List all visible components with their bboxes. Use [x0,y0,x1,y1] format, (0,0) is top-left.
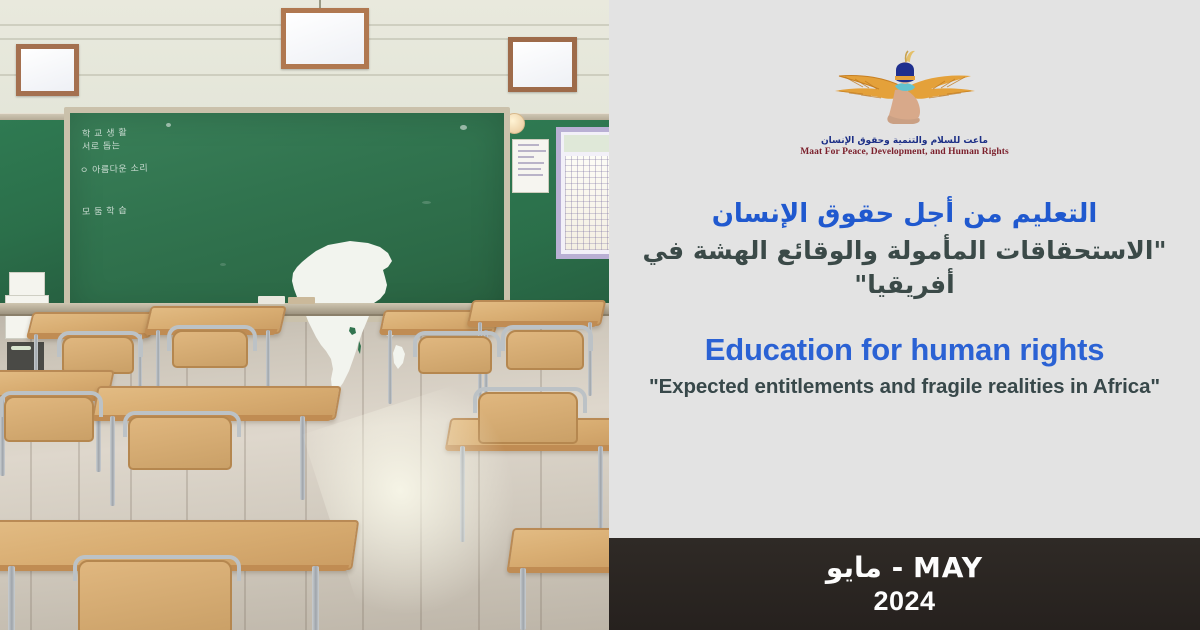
chair [418,336,488,370]
wall-picture-frame [508,37,577,92]
chair [172,330,244,364]
date-year: 2024 [873,586,935,617]
desk [507,528,609,568]
maat-winged-goddess-logo-icon [823,48,987,134]
date-bar: مايو - MAY 2024 [609,538,1200,630]
wall-picture-frame [16,44,79,96]
english-title-line1: Education for human rights [619,332,1190,368]
organization-logo: ماعت للسلام والتنمية وحقوق الإنسان Maat … [609,48,1200,157]
english-title-block: Education for human rights "Expected ent… [609,332,1200,399]
logo-english-name: Maat For Peace, Development, and Human R… [609,147,1200,157]
blackboard-eraser [258,296,285,304]
logo-arabic-name: ماعت للسلام والتنمية وحقوق الإنسان [609,136,1200,146]
classroom-photo: 학 교 생 활 서로 돕는 ㅇ 아름다운 소리 모 둠 학 습 [0,0,609,630]
chalkboard: 학 교 생 활 서로 돕는 ㅇ 아름다운 소리 모 둠 학 습 [64,107,510,322]
chair [128,416,228,466]
date-month: مايو - MAY [826,551,983,584]
chair [62,336,130,370]
poster-root: 학 교 생 활 서로 돕는 ㅇ 아름다운 소리 모 둠 학 습 [0,0,1200,630]
arabic-title-block: التعليم من أجل حقوق الإنسان "الاستحقاقات… [609,198,1200,301]
wall-picture-frame [281,8,369,69]
chair [4,396,90,438]
chair [78,560,228,630]
chalk-stick [288,297,315,304]
desk [468,300,603,322]
certificate-paper [512,139,549,193]
arabic-title-line1: التعليم من أجل حقوق الإنسان [621,198,1188,232]
side-green-board-left [0,120,70,313]
info-panel: ماعت للسلام والتنمية وحقوق الإنسان Maat … [609,0,1200,630]
arabic-title-line2: "الاستحقاقات المأمولة والوقائع الهشة في … [621,234,1188,302]
chair [506,330,580,366]
english-title-line2: "Expected entitlements and fragile reali… [619,375,1190,399]
wall-chart-poster [556,127,609,259]
